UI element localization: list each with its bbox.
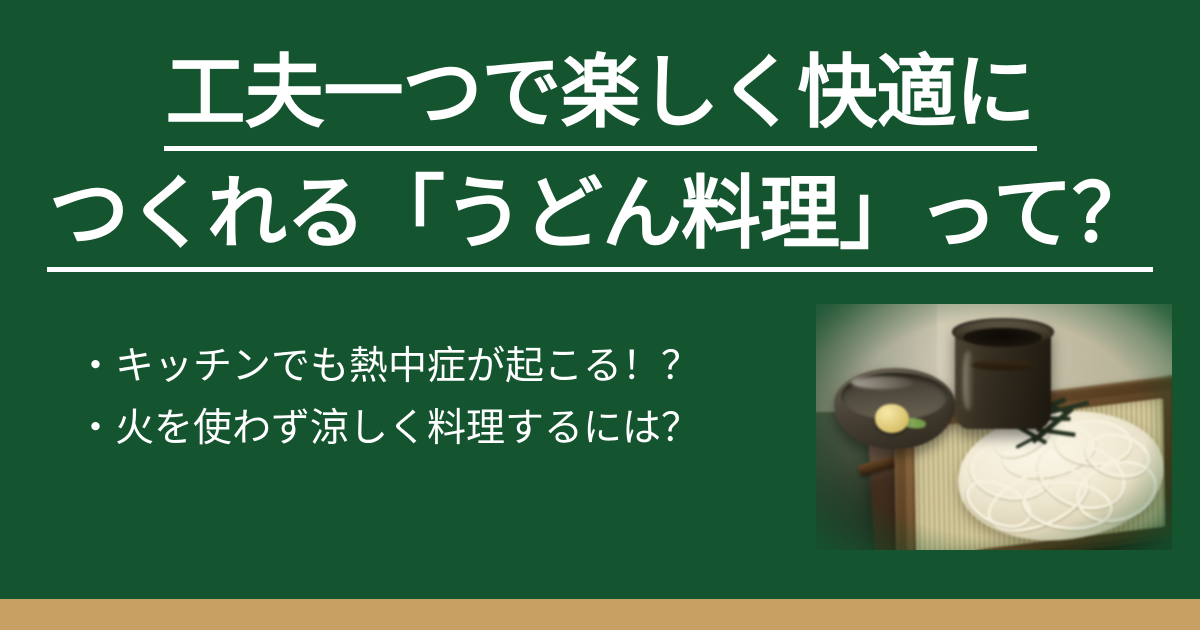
title-line-1-text: 工夫一つで楽しく快適に <box>164 46 1037 151</box>
footer-accent-bar <box>0 599 1200 630</box>
page-title: 工夫一つで楽しく快適に つくれる「うどん料理」って？ <box>0 46 1200 272</box>
tea-cup <box>955 324 1051 430</box>
cup-liquid <box>970 360 1035 371</box>
list-item: ・キッチンでも熱中症が起こる！？ <box>76 336 776 398</box>
cup-highlight <box>963 351 975 410</box>
condiment-bowl <box>834 368 955 449</box>
zaru-udon-photo <box>816 304 1172 550</box>
list-item: ・火を使わず涼しく料理するには？ <box>76 398 776 460</box>
title-line-1: 工夫一つで楽しく快適に <box>0 46 1200 151</box>
title-line-2-text: つくれる「うどん料理」って？ <box>47 167 1153 272</box>
bullet-list: ・キッチンでも熱中症が起こる！？ ・火を使わず涼しく料理するには？ <box>76 336 776 460</box>
title-line-2: つくれる「うどん料理」って？ <box>0 167 1200 272</box>
slide-canvas: 工夫一つで楽しく快適に つくれる「うどん料理」って？ ・キッチンでも熱中症が起こ… <box>0 0 1200 630</box>
bowl-highlight <box>851 376 914 389</box>
cup-interior <box>963 328 1042 347</box>
grated-ginger <box>875 404 909 433</box>
photo-scene <box>816 304 1172 550</box>
